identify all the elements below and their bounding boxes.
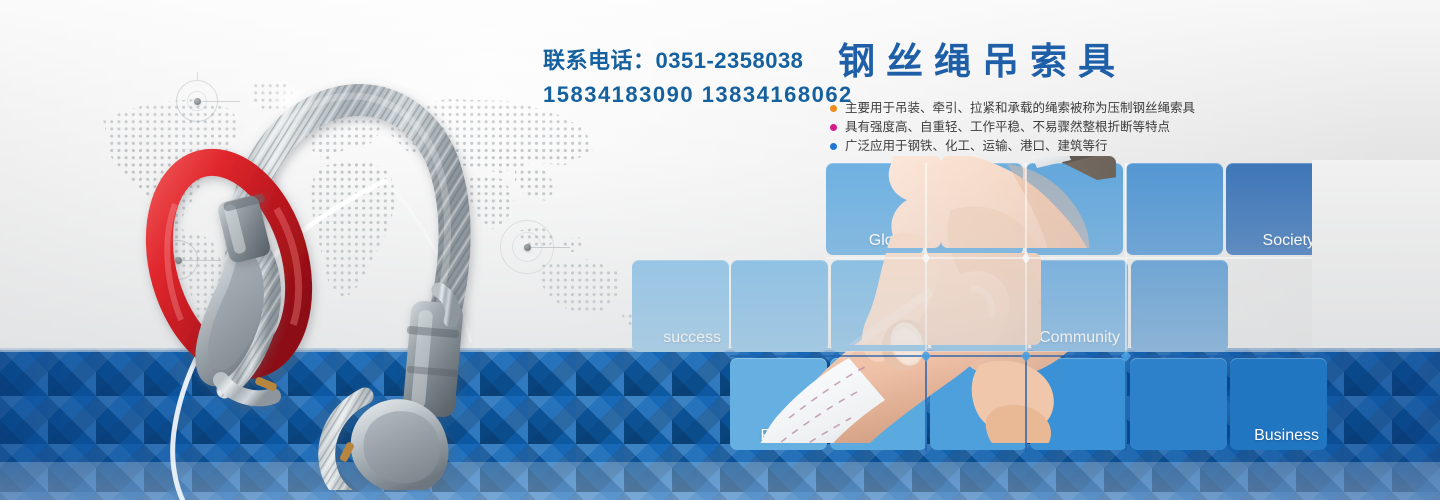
- value-tile-blank: [1131, 260, 1228, 352]
- feature-text: 主要用于吊装、牵引、拉紧和承载的绳索被称为压制钢丝绳索具: [845, 99, 1195, 118]
- value-tile-blank: [926, 163, 1023, 255]
- page-title: 钢丝绳吊索具: [838, 40, 1126, 84]
- value-tile-blank: [830, 358, 927, 450]
- value-tile-business: Business: [1230, 358, 1327, 450]
- right-background-fill: [1312, 160, 1440, 348]
- value-tile-global: Global: [826, 163, 923, 255]
- value-tile-label: Community: [1039, 329, 1120, 347]
- value-tile-grid: GlobalSocietysuccessCommunityPromiseBusi…: [630, 160, 1320, 500]
- value-tile-success: success: [632, 260, 729, 352]
- value-tile-blank: [1126, 163, 1223, 255]
- contact-phone-line-1: 联系电话：0351-2358038: [543, 47, 853, 75]
- bullet-dot-icon: [830, 143, 837, 150]
- value-tile-blank: [731, 260, 828, 352]
- wire-rope-sling-photo: [105, 28, 535, 490]
- value-tile-label: success: [663, 329, 721, 347]
- feature-text: 广泛应用于钢铁、化工、运输、港口、建筑等行: [845, 137, 1108, 156]
- feature-item: 具有强度高、自重轻、工作平稳、不易骤然整根折断等特点: [830, 118, 1195, 137]
- feature-list: 主要用于吊装、牵引、拉紧和承载的绳索被称为压制钢丝绳索具具有强度高、自重轻、工作…: [830, 99, 1195, 156]
- value-tile-label: Global: [869, 232, 915, 250]
- contact-block: 联系电话：0351-2358038 15834183090 1383416806…: [543, 47, 853, 110]
- value-tile-community: Community: [1031, 260, 1128, 352]
- value-tile-blank: [831, 260, 928, 352]
- contact-phone-line-2: 15834183090 13834168062: [543, 80, 853, 110]
- feature-item: 广泛应用于钢铁、化工、运输、港口、建筑等行: [830, 137, 1195, 156]
- value-tile-label: Society: [1263, 232, 1315, 250]
- value-tile-blank: [931, 260, 1028, 352]
- value-tile-blank: [1130, 358, 1227, 450]
- value-tile-label: Business: [1254, 427, 1319, 445]
- bullet-dot-icon: [830, 124, 837, 131]
- value-tile-blank: [1030, 358, 1127, 450]
- value-tile-society: Society: [1226, 163, 1323, 255]
- value-tile-blank: [1026, 163, 1123, 255]
- value-tile-blank: [930, 358, 1027, 450]
- value-tile-label: Promise: [760, 427, 819, 445]
- promo-banner: GlobalSocietysuccessCommunityPromiseBusi…: [0, 0, 1440, 500]
- value-tile-promise: Promise: [730, 358, 827, 450]
- bullet-dot-icon: [830, 105, 837, 112]
- feature-text: 具有强度高、自重轻、工作平稳、不易骤然整根折断等特点: [845, 118, 1170, 137]
- feature-item: 主要用于吊装、牵引、拉紧和承载的绳索被称为压制钢丝绳索具: [830, 99, 1195, 118]
